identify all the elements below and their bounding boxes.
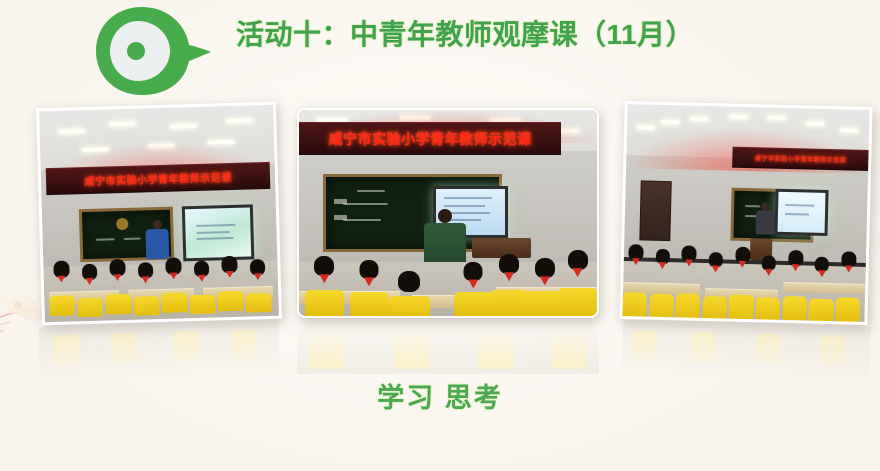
presentation-slide: 活动十：中青年教师观摩课（11月） 咸宁市实验小学青年教师 <box>0 0 880 471</box>
photo-thumbnail-2[interactable]: 咸宁市实验小学青年教师示范课 <box>297 108 599 318</box>
green-eye-leaf-logo-icon <box>90 5 212 97</box>
photo-thumbnail-1[interactable]: 咸宁市实验小学青年教师示范课 <box>36 102 282 326</box>
led-banner-text: 咸宁市实验小学青年教师示范课 <box>755 154 846 165</box>
page-title: 活动十：中青年教师观摩课（11月） <box>236 15 856 61</box>
led-banner-text: 咸宁市实验小学青年教师示范课 <box>329 129 532 149</box>
photo-gallery: 咸宁市实验小学青年教师示范课 <box>0 96 880 356</box>
led-banner-text: 咸宁市实验小学青年教师示范课 <box>84 169 231 188</box>
photo-reflection-2 <box>297 320 599 374</box>
photo-thumbnail-3[interactable]: 咸宁市实验小学青年教师示范课 <box>619 101 872 325</box>
slide-caption: 学习 思考 <box>0 376 880 415</box>
photo-reflection-3 <box>621 321 870 381</box>
slide-header: 活动十：中青年教师观摩课（11月） <box>0 0 880 96</box>
photo-reflection-1 <box>38 321 279 382</box>
